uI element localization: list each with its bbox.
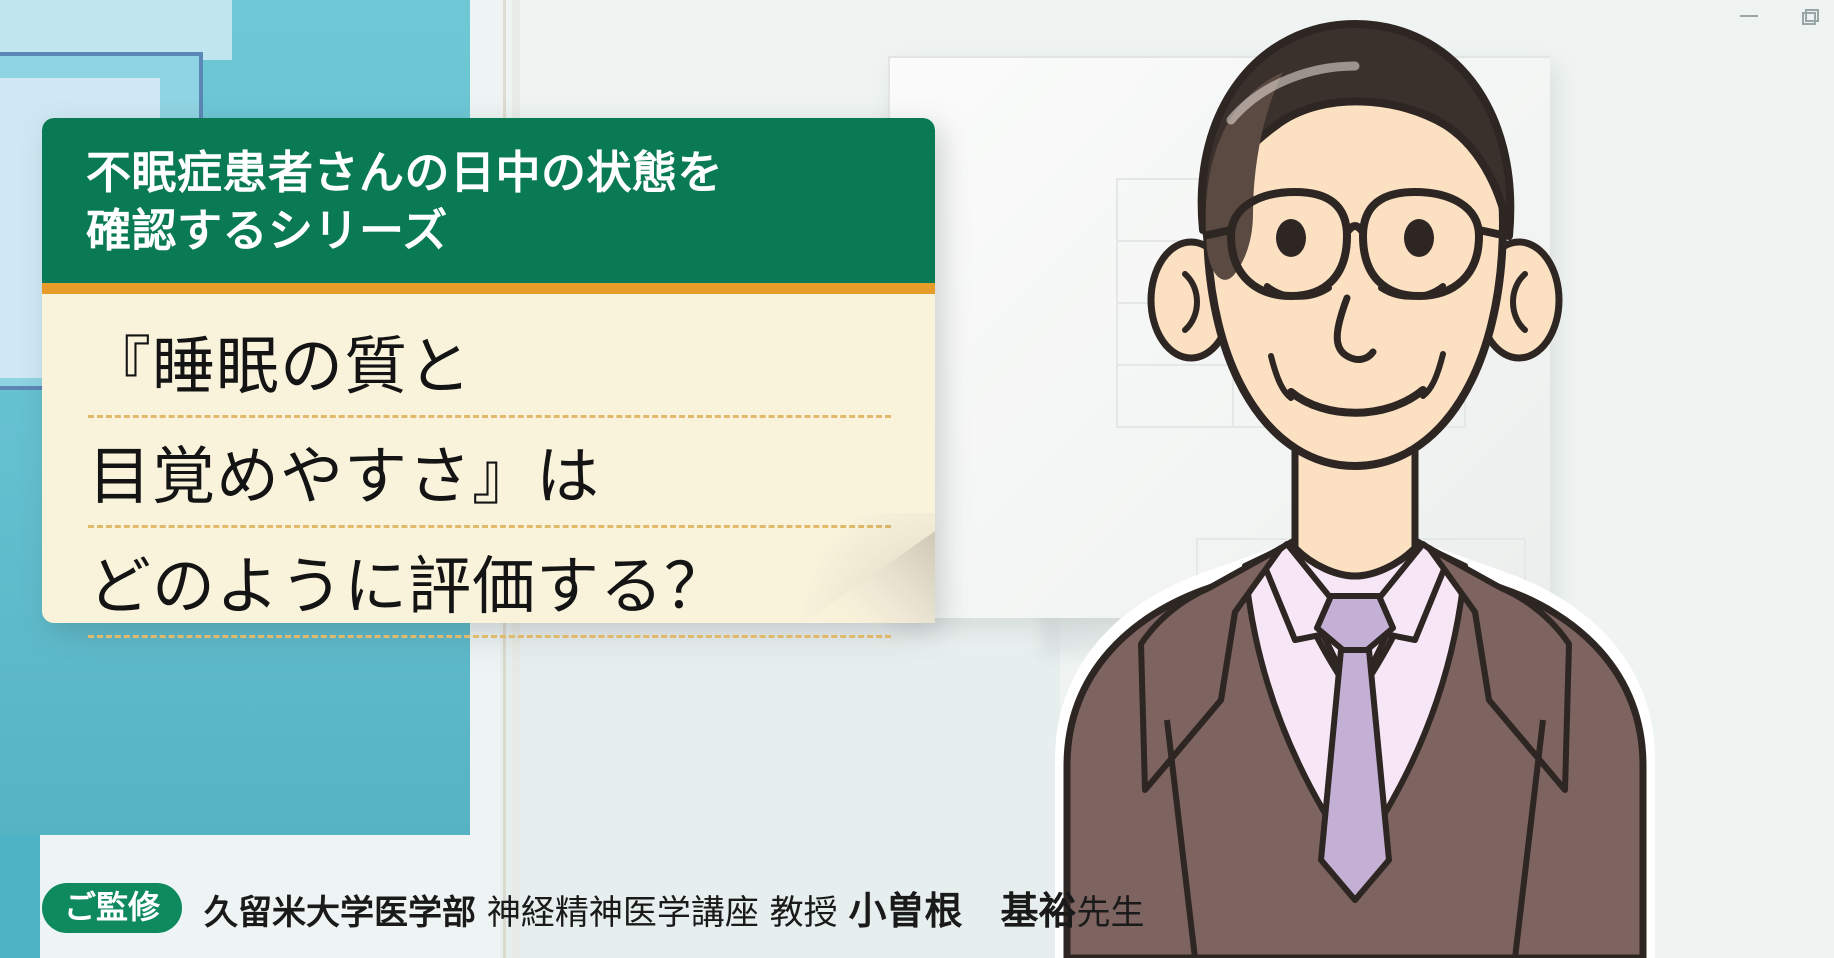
note-line-text-3: どのように評価する？ [88, 536, 728, 627]
window-controls [1732, 2, 1826, 30]
supervisor-credit: ご監修 久留米大学医学部 神経精神医学講座 教授 小曽根 基裕先生 [42, 880, 1144, 935]
card-header-title: 不眠症患者さんの日中の状態を 確認するシリーズ [86, 144, 897, 259]
supervisor-details: 久留米大学医学部 神経精神医学講座 教授 小曽根 基裕先生 [204, 880, 1144, 935]
card-divider-bar [42, 283, 935, 294]
note-line: どのように評価する？ [88, 528, 891, 638]
note-line: 『睡眠の質と [88, 308, 891, 418]
supervisor-department: 神経精神医学講座 [487, 893, 759, 933]
note-line-text-1: 『睡眠の質と [88, 316, 472, 407]
title-card: 不眠症患者さんの日中の状態を 確認するシリーズ 『睡眠の質と 目覚めやすさ』は … [42, 118, 935, 718]
note-line-text-2: 目覚めやすさ』は [88, 426, 600, 517]
restore-window-button[interactable] [1792, 2, 1826, 30]
card-header-line-1: 不眠症患者さんの日中の状態を [86, 146, 723, 199]
restore-window-icon [1802, 9, 1817, 24]
card-header-line-2: 確認するシリーズ [86, 204, 448, 257]
supervisor-name: 小曽根 基裕 [848, 889, 1076, 933]
note-line: 目覚めやすさ』は [88, 418, 891, 528]
card-body: 『睡眠の質と 目覚めやすさ』は どのように評価する？ [42, 294, 935, 623]
supervisor-title: 教授 [770, 893, 838, 933]
supervisor-honorific: 先生 [1076, 893, 1144, 933]
card-header: 不眠症患者さんの日中の状態を 確認するシリーズ [42, 118, 935, 283]
minimize-button[interactable] [1732, 2, 1766, 30]
background-teal-footer [0, 835, 40, 958]
supervisor-badge: ご監修 [42, 883, 182, 933]
supervisor-affiliation: 久留米大学医学部 [204, 893, 476, 933]
minimize-icon [1740, 15, 1758, 17]
professor-illustration [995, 0, 1695, 958]
background-teal-strip [0, 0, 232, 60]
slide-stage: 不眠症患者さんの日中の状態を 確認するシリーズ 『睡眠の質と 目覚めやすさ』は … [0, 0, 1834, 958]
